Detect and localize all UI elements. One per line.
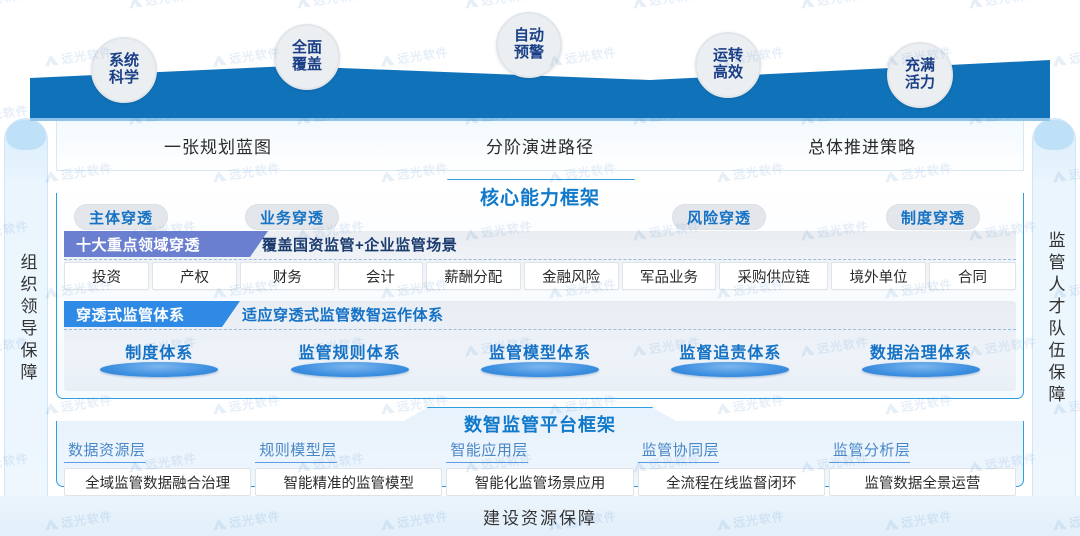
badge-line2: 预警 <box>514 45 544 62</box>
system-band-caption: 适应穿透式监管数智运作体系 <box>242 301 444 327</box>
system-item-label: 制度体系 <box>64 339 254 363</box>
system-item-institution[interactable]: 制度体系 <box>64 339 254 363</box>
watermark-logo-icon <box>632 0 647 9</box>
domain-cell-contract[interactable]: 合同 <box>929 262 1016 290</box>
domain-band-tag: 十大重点领域穿透 <box>64 231 268 257</box>
platform-layer-desc[interactable]: 全流程在线监督闭环 <box>638 468 825 496</box>
watermark-logo-icon <box>968 0 983 9</box>
platform-framework-title: 数智监管平台框架 <box>56 411 1024 437</box>
pill-system-penetration[interactable]: 制度穿透 <box>886 204 980 230</box>
badge-line2: 覆盖 <box>292 57 322 74</box>
domain-cell-financial-risk[interactable]: 金融风险 <box>524 262 619 290</box>
system-item-rules[interactable]: 监管规则体系 <box>254 339 444 363</box>
platform-column-rule-model: 规则模型层 智能精准的监管模型 <box>255 439 442 496</box>
watermark-text: 远光软件 <box>0 0 30 12</box>
platform-column-collaboration: 监管协同层 全流程在线监督闭环 <box>638 439 825 496</box>
pillar-left-organizational-guarantee: 组织领导保障 <box>4 118 48 518</box>
system-band-tag: 穿透式监管体系 <box>64 301 240 327</box>
watermark-text: 远光软件 <box>463 0 534 12</box>
system-item-oval <box>671 362 789 377</box>
badge-line2: 科学 <box>109 70 139 87</box>
system-band-divider <box>64 329 1016 330</box>
watermark-logo-icon <box>1052 54 1067 67</box>
platform-layer-label: 监管协同层 <box>638 439 720 463</box>
badge-efficient-operation: 运转 高效 <box>695 32 761 98</box>
watermark-logo-icon <box>464 0 479 9</box>
watermark-text: 远光软件 <box>799 0 870 12</box>
system-item-label: 监管规则体系 <box>254 339 444 363</box>
watermark-text: 远光软件 <box>967 0 1038 12</box>
system-item-oval <box>100 362 218 377</box>
system-item-label: 数据治理体系 <box>826 339 1016 363</box>
watermark-logo-icon <box>296 0 311 9</box>
platform-layer-desc[interactable]: 智能化监管场景应用 <box>446 468 633 496</box>
badge-line1: 运转 <box>713 48 743 65</box>
strategy-row: 一张规划蓝图 分阶演进路径 总体推进策略 <box>56 121 1024 171</box>
core-capability-title: 核心能力框架 <box>56 183 1024 210</box>
pill-risk-penetration[interactable]: 风险穿透 <box>672 204 766 230</box>
strategy-cell-blueprint: 一张规划蓝图 <box>57 133 379 158</box>
pillar-right-label: 监管人才队伍保障 <box>1033 119 1077 519</box>
system-items: 制度体系 监管规则体系 监管模型体系 监督追责体系 数据治理体系 <box>64 339 1016 363</box>
domain-cell-finance[interactable]: 财务 <box>240 262 335 290</box>
pill-business-penetration[interactable]: 业务穿透 <box>245 204 339 230</box>
system-item-accountability[interactable]: 监督追责体系 <box>635 339 825 363</box>
platform-column-data-resource: 数据资源层 全域监管数据融合治理 <box>64 439 251 496</box>
system-item-oval <box>862 362 980 377</box>
header-banner-underline <box>30 118 1050 121</box>
domain-band-divider <box>64 259 1016 260</box>
bottom-bar-resource-guarantee: 建设资源保障 <box>0 496 1080 536</box>
watermark-logo-icon <box>800 0 815 9</box>
domain-band-caption: 覆盖国资监管+企业监管场景 <box>262 231 457 257</box>
watermark-logo-icon <box>128 0 143 9</box>
platform-layer-label: 规则模型层 <box>255 439 337 463</box>
main-content: 一张规划蓝图 分阶演进路径 总体推进策略 核心能力框架 主体穿透 业务穿透 风险… <box>56 121 1024 487</box>
domain-cell-military[interactable]: 军品业务 <box>622 262 717 290</box>
platform-column-intelligent-app: 智能应用层 智能化监管场景应用 <box>446 439 633 496</box>
domain-cell-overseas[interactable]: 境外单位 <box>831 262 926 290</box>
system-item-data-governance[interactable]: 数据治理体系 <box>826 339 1016 363</box>
domain-cell-accounting[interactable]: 会计 <box>338 262 423 290</box>
strategy-cell-strategy: 总体推进策略 <box>701 133 1023 158</box>
badge-line1: 全面 <box>292 40 322 57</box>
badge-line1: 充满 <box>905 58 935 75</box>
badge-line2: 活力 <box>905 75 935 92</box>
platform-layer-desc[interactable]: 监管数据全景运营 <box>829 468 1016 496</box>
badge-full-coverage: 全面 覆盖 <box>274 24 340 90</box>
pillar-left-label: 组织领导保障 <box>5 119 49 519</box>
badge-line1: 系统 <box>109 53 139 70</box>
badge-system-science: 系统 科学 <box>91 37 157 103</box>
platform-column-analysis: 监管分析层 监管数据全景运营 <box>829 439 1016 496</box>
strategy-cell-roadmap: 分阶演进路径 <box>379 133 701 158</box>
watermark-text: 远光软件 <box>631 0 702 12</box>
watermark-text: 远光软件 <box>127 0 198 12</box>
pill-subject-penetration[interactable]: 主体穿透 <box>74 204 168 230</box>
system-item-models[interactable]: 监管模型体系 <box>445 339 635 363</box>
platform-layer-label: 智能应用层 <box>446 439 528 463</box>
platform-layer-desc[interactable]: 智能精准的监管模型 <box>255 468 442 496</box>
platform-layer-label: 监管分析层 <box>829 439 911 463</box>
platform-layer-label: 数据资源层 <box>64 439 146 463</box>
system-item-label: 监管模型体系 <box>445 339 635 363</box>
watermark-text: 远光软件 <box>1051 43 1080 69</box>
domain-cell-investment[interactable]: 投资 <box>64 262 149 290</box>
infographic-root: 组织领导保障 监管人才队伍保障 建成智能化穿透式监管体系 系统 科学 全面 覆盖… <box>0 0 1080 536</box>
badge-full-vitality: 充满 活力 <box>887 42 953 108</box>
domain-cell-compensation[interactable]: 薪酬分配 <box>426 262 521 290</box>
badge-line2: 高效 <box>713 65 743 82</box>
system-item-oval <box>291 362 409 377</box>
domain-cell-supply-chain[interactable]: 采购供应链 <box>719 262 828 290</box>
pillar-right-talent-guarantee: 监管人才队伍保障 <box>1032 118 1076 518</box>
badge-auto-alert: 自动 预警 <box>496 12 562 78</box>
system-item-oval <box>481 362 599 377</box>
watermark-text: 远光软件 <box>295 0 366 12</box>
system-item-label: 监督追责体系 <box>635 339 825 363</box>
platform-columns: 数据资源层 全域监管数据融合治理 规则模型层 智能精准的监管模型 智能应用层 智… <box>64 439 1016 496</box>
domain-cell-property[interactable]: 产权 <box>152 262 237 290</box>
domain-cells: 投资 产权 财务 会计 薪酬分配 金融风险 军品业务 采购供应链 境外单位 合同 <box>64 262 1016 290</box>
badge-line1: 自动 <box>514 28 544 45</box>
platform-layer-desc[interactable]: 全域监管数据融合治理 <box>64 468 251 496</box>
